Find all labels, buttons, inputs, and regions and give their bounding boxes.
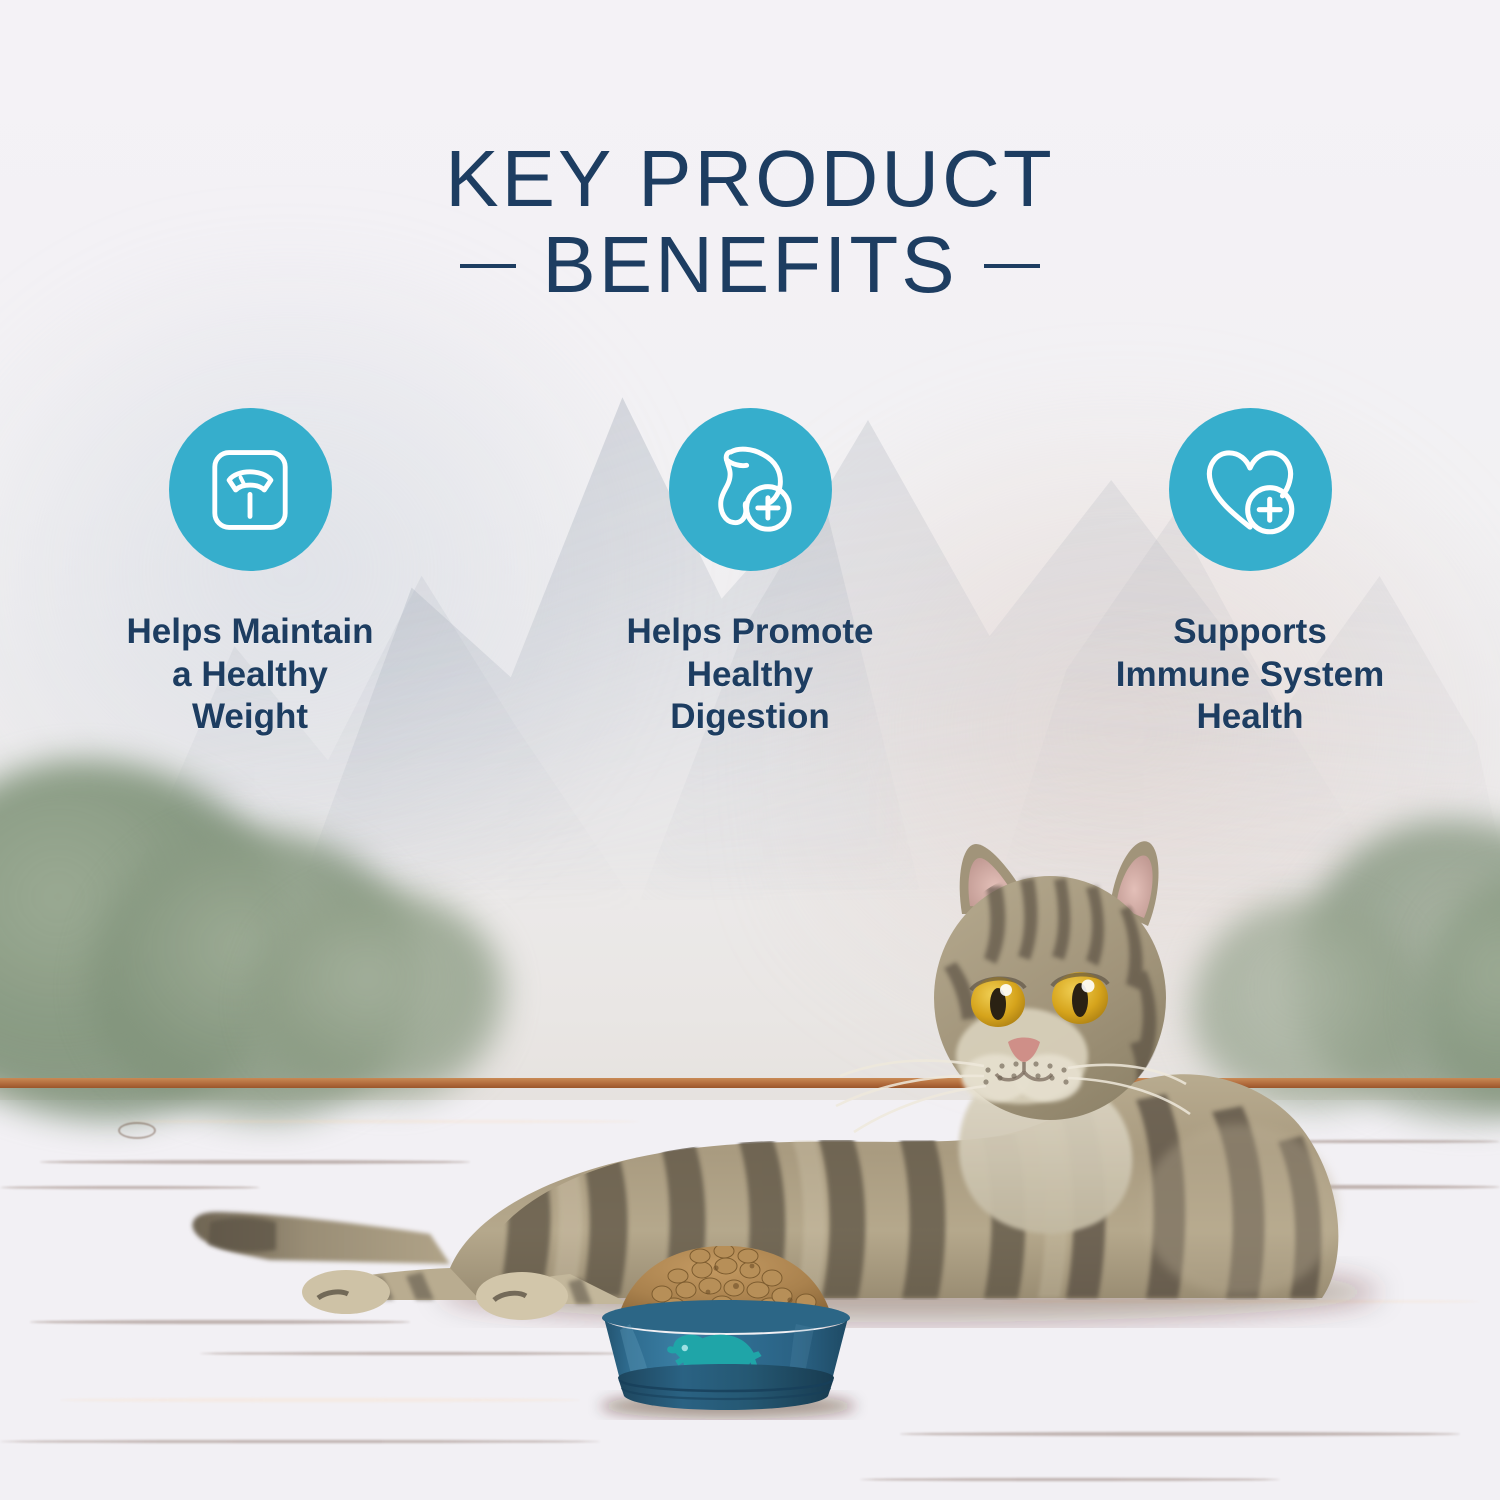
- benefits-row: Helps Maintain a Healthy Weight Helps Pr…: [0, 408, 1500, 739]
- benefit-label-line: a Healthy: [172, 655, 328, 694]
- benefit-item-digestion: Helps Promote Healthy Digestion: [500, 408, 1000, 739]
- benefit-label-weight: Helps Maintain a Healthy Weight: [127, 611, 374, 739]
- pet-food-bowl: [560, 1220, 890, 1420]
- benefit-label-immune: Supports Immune System Health: [1116, 611, 1384, 739]
- benefit-label-line: Helps Promote: [627, 612, 874, 651]
- title-dash-left: [460, 264, 516, 268]
- product-benefits-banner: KEY PRODUCT BENEFITS Helps Maintain a He…: [0, 0, 1500, 1500]
- benefit-label-line: Digestion: [670, 697, 829, 736]
- benefit-label-line: Weight: [192, 697, 308, 736]
- title-dash-right: [984, 264, 1040, 268]
- benefit-item-immune: Supports Immune System Health: [1000, 408, 1500, 739]
- title-line-1: KEY PRODUCT: [0, 138, 1500, 220]
- page-title: KEY PRODUCT BENEFITS: [0, 138, 1500, 305]
- wood-grain-line: [860, 1478, 1280, 1481]
- title-line-2: BENEFITS: [542, 220, 957, 309]
- benefit-label-line: Supports: [1173, 612, 1327, 651]
- benefit-label-digestion: Helps Promote Healthy Digestion: [627, 611, 874, 739]
- stomach-plus-icon: [669, 408, 832, 571]
- benefit-item-weight: Helps Maintain a Healthy Weight: [0, 408, 500, 739]
- benefit-label-line: Health: [1197, 697, 1304, 736]
- title-line-2-wrap: BENEFITS: [0, 224, 1500, 306]
- benefit-label-line: Healthy: [687, 655, 813, 694]
- benefit-label-line: Helps Maintain: [127, 612, 374, 651]
- heart-plus-icon: [1169, 408, 1332, 571]
- weight-scale-icon: [169, 408, 332, 571]
- benefit-label-line: Immune System: [1116, 655, 1384, 694]
